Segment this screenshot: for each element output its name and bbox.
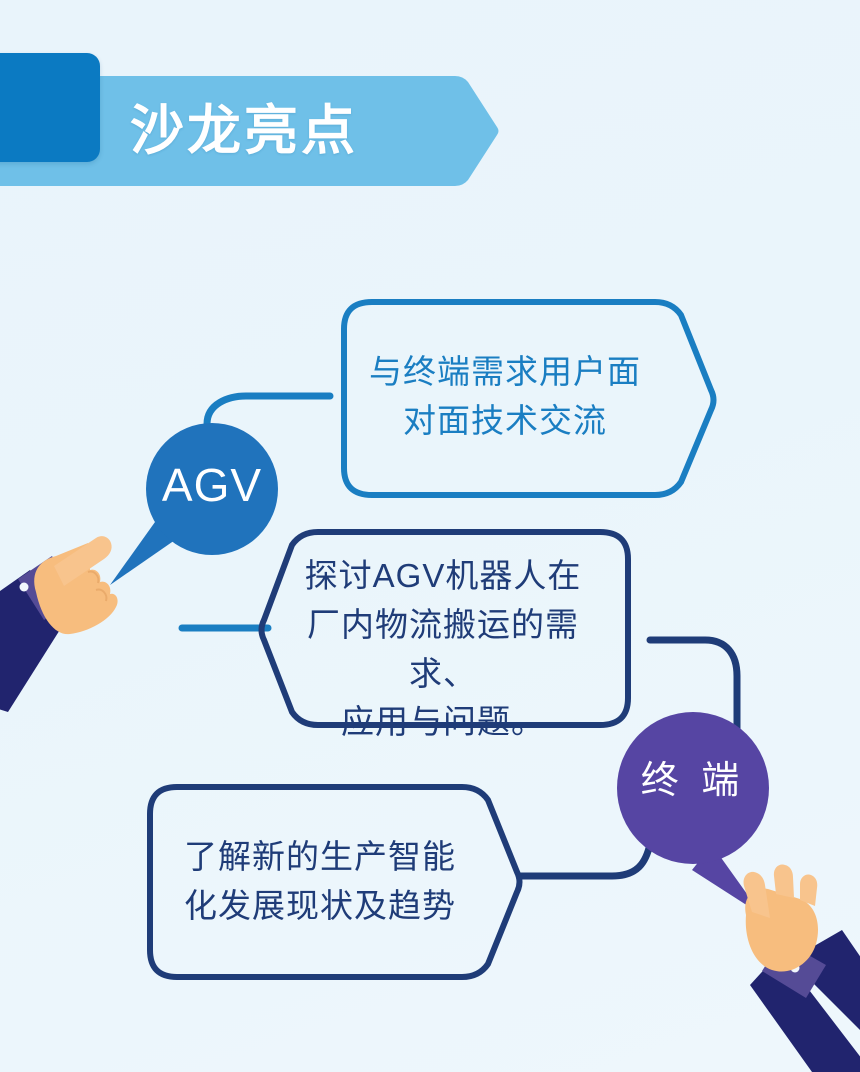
right-hand-illustration — [744, 865, 860, 1072]
agv-badge-label: AGV — [146, 462, 278, 508]
connector-box3-to-terminal — [521, 844, 650, 876]
callout-1-text: 与终端需求用户面 对面技术交流 — [345, 348, 665, 446]
callout-3-text: 了解新的生产智能 化发展现状及趋势 — [155, 833, 485, 931]
connector-agv-to-box1 — [207, 396, 330, 424]
left-hand-illustration — [0, 536, 118, 712]
terminal-badge-label: 终 端 — [617, 762, 769, 800]
left-hand-cuff-button — [20, 583, 29, 592]
poster-canvas: 沙龙亮点 — [0, 0, 860, 1072]
callout-2-text: 探讨AGV机器人在 厂内物流搬运的需求、 应用与问题。 — [278, 552, 608, 747]
